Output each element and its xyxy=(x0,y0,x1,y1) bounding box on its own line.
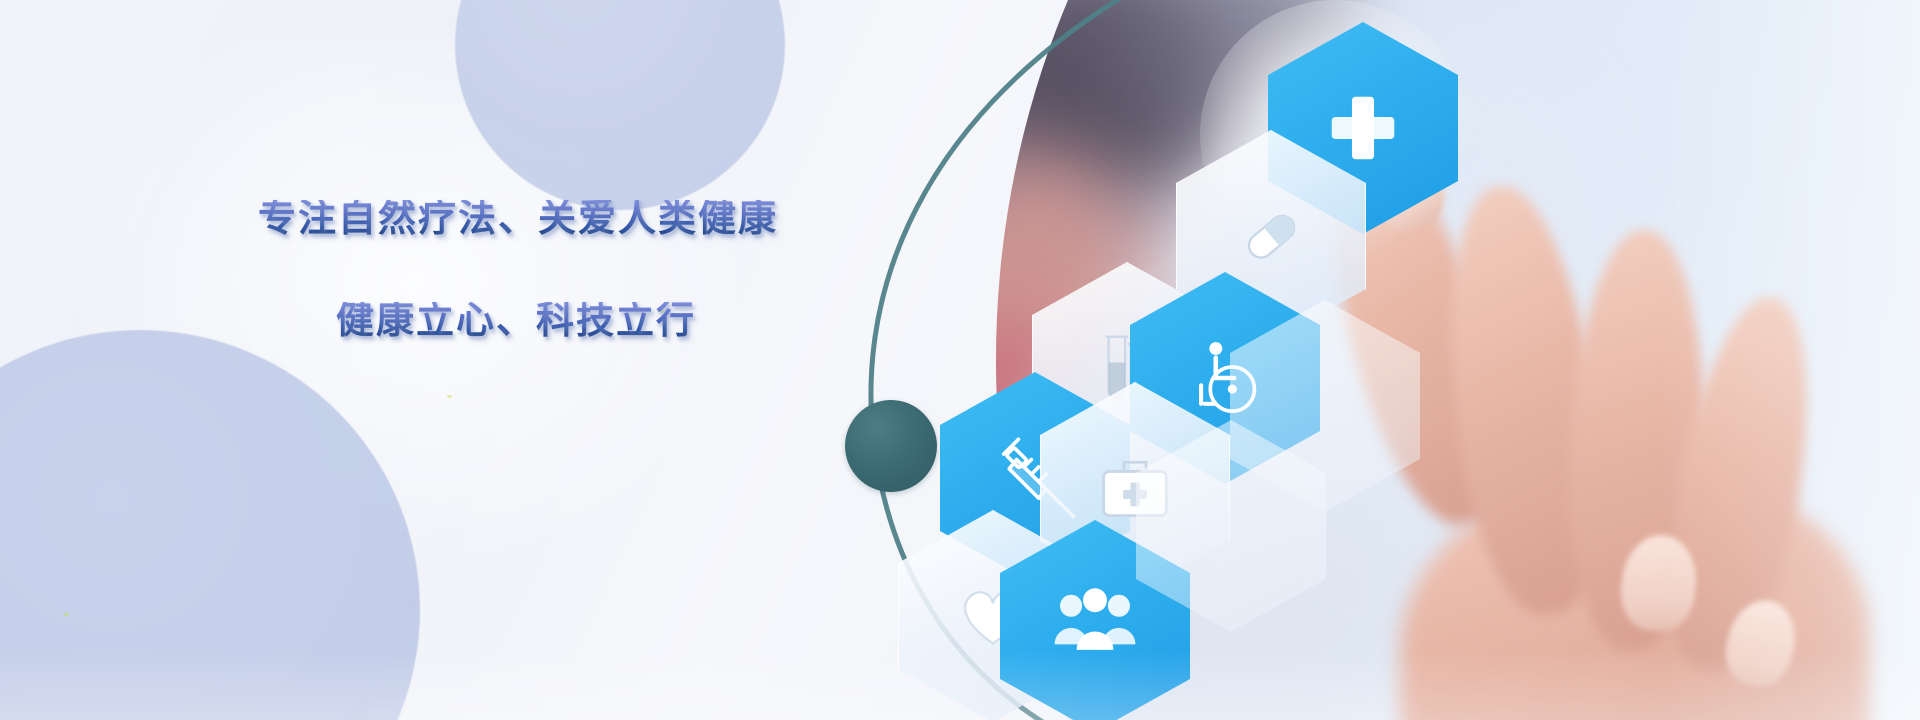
headline-block: 专注自然疗法、关爱人类健康 健康立心、科技立行 xyxy=(258,160,878,340)
decor-circle-bottom xyxy=(0,330,420,720)
hand-finger-pinky xyxy=(1648,287,1832,682)
headline-line-2: 健康立心、科技立行 xyxy=(336,302,878,340)
capsule-pill-icon xyxy=(1225,190,1317,282)
headline-line-1: 专注自然疗法、关爱人类健康 xyxy=(258,200,878,238)
group-people-icon xyxy=(1049,580,1141,672)
accent-speck xyxy=(64,613,69,616)
accent-speck xyxy=(447,395,452,398)
hero-banner: 专注自然疗法、关爱人类健康 健康立心、科技立行 xyxy=(0,0,1920,720)
medical-cross-icon xyxy=(1317,82,1409,174)
arc-node-dot[interactable] xyxy=(845,400,937,492)
hand-fingernail xyxy=(1617,531,1701,634)
hand-fingernail xyxy=(1719,593,1804,692)
